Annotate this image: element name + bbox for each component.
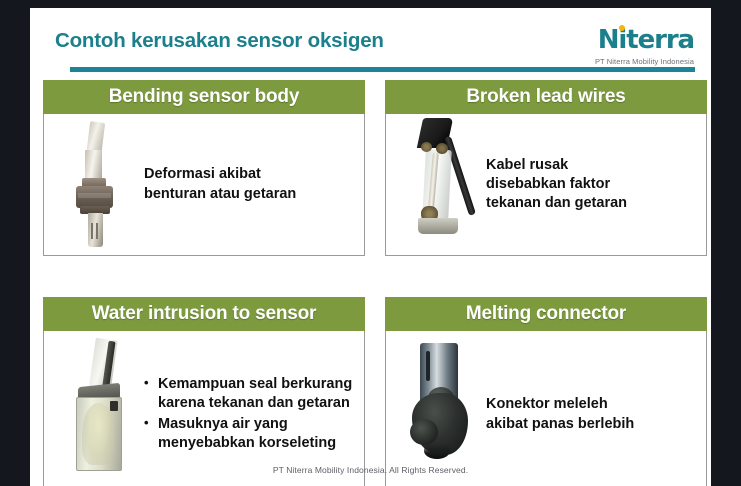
list-item: Masuknya air yang menyebabkan korseletin…: [144, 415, 354, 453]
card-description-line: Kabel rusak: [486, 156, 696, 175]
presentation-slide: Contoh kerusakan sensor oksigen Niterra …: [30, 8, 711, 486]
card-body: Deformasi akibat benturan atau getaran: [43, 114, 365, 256]
card-description: Kabel rusak disebabkan faktor tekanan da…: [486, 156, 706, 213]
slide-header: Contoh kerusakan sensor oksigen Niterra …: [30, 8, 711, 70]
card-header-label: Melting connector: [466, 303, 626, 325]
footer-copyright: PT Niterra Mobility Indonesia. All Right…: [273, 465, 468, 475]
card-figure: [44, 114, 144, 255]
card-header: Bending sensor body: [43, 80, 365, 114]
card-melting-connector: Melting connector Konektor meleleh akib: [385, 297, 707, 486]
melted-mass-lower: [410, 419, 438, 445]
card-description-line: benturan atau getaran: [144, 185, 354, 204]
bent-oxygen-sensor-photo: [66, 120, 122, 250]
sensor-base: [418, 218, 458, 234]
housing-notch: [110, 401, 118, 411]
frayed-wire-right: [436, 143, 448, 154]
card-header: Water intrusion to sensor: [43, 297, 365, 331]
card-header-label: Water intrusion to sensor: [92, 303, 316, 325]
card-description: Konektor meleleh akibat panas berlebih: [486, 395, 706, 433]
card-description: Kemampuan seal berkurang karena tekanan …: [144, 375, 364, 454]
card-description-line: Konektor meleleh: [486, 395, 696, 414]
card-figure: [386, 114, 486, 255]
card-header: Melting connector: [385, 297, 707, 331]
screenshot-frame: Contoh kerusakan sensor oksigen Niterra …: [0, 0, 741, 486]
card-bending-sensor-body: Bending sensor body Deformasi akibat be: [43, 80, 365, 256]
card-description-line: akibat panas berlebih: [486, 415, 696, 434]
card-description: Deformasi akibat benturan atau getaran: [144, 165, 364, 203]
card-description-line: disebabkan faktor: [486, 175, 696, 194]
melted-connector-photo: [406, 343, 478, 475]
sensor-tip: [88, 213, 103, 247]
title-divider: [70, 67, 695, 72]
page-title: Contoh kerusakan sensor oksigen: [55, 29, 384, 53]
melted-mass-tail: [424, 443, 450, 459]
logo-wordmark-text: Niterra: [598, 25, 694, 55]
card-description-line: Deformasi akibat: [144, 165, 354, 184]
card-broken-lead-wires: Broken lead wires Kabel: [385, 80, 707, 256]
card-header-label: Broken lead wires: [466, 86, 625, 108]
frayed-wire-left: [421, 142, 432, 152]
card-header: Broken lead wires: [385, 80, 707, 114]
broken-lead-wires-photo: [404, 118, 474, 252]
moisture-stain: [82, 403, 115, 465]
card-body: Kabel rusak disebabkan faktor tekanan da…: [385, 114, 707, 256]
sensor-hex-nut: [76, 186, 113, 208]
slide-footer: PT Niterra Mobility Indonesia. All Right…: [30, 460, 711, 478]
company-logo: Niterra PT Niterra Mobility Indonesia: [595, 27, 694, 66]
card-description-line: tekanan dan getaran: [486, 194, 696, 213]
card-header-label: Bending sensor body: [109, 86, 299, 108]
water-intrusion-sensor-photo: [64, 339, 130, 479]
logo-wordmark: Niterra: [598, 27, 694, 53]
list-item: Kemampuan seal berkurang karena tekanan …: [144, 375, 354, 413]
card-bullet-list: Kemampuan seal berkurang karena tekanan …: [144, 375, 354, 453]
card-water-intrusion: Water intrusion to sensor Kemampuan: [43, 297, 365, 486]
logo-dot-icon: [619, 25, 625, 31]
logo-tagline: PT Niterra Mobility Indonesia: [595, 57, 694, 66]
connector-slot: [426, 351, 430, 381]
